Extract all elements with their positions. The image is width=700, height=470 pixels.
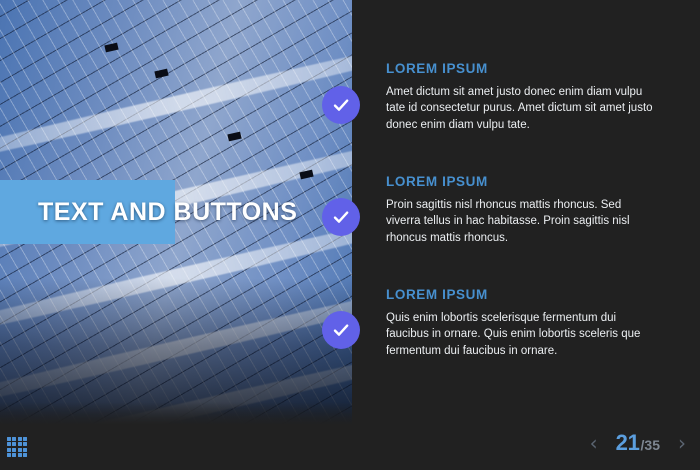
grid-cell — [18, 448, 22, 452]
list-item: LOREM IPSUM Proin sagittis nisl rhoncus … — [386, 174, 658, 246]
total-pages: /35 — [641, 437, 660, 453]
list-item: LOREM IPSUM Quis enim lobortis scelerisq… — [386, 287, 658, 359]
grid-cell — [12, 448, 16, 452]
grid-cell — [7, 453, 11, 457]
grid-cell — [18, 442, 22, 446]
item-body: Amet dictum sit amet justo donec enim di… — [386, 84, 658, 133]
grid-cell — [23, 437, 27, 441]
check-icon[interactable] — [322, 86, 360, 124]
item-body: Proin sagittis nisl rhoncus mattis rhonc… — [386, 197, 658, 246]
grid-cell — [12, 437, 16, 441]
pagination: ‹ 21 /35 › — [588, 428, 688, 458]
chevron-right-icon[interactable]: › — [676, 433, 688, 453]
grid-cell — [18, 437, 22, 441]
item-heading: LOREM IPSUM — [386, 287, 658, 302]
page-title: TEXT AND BUTTONS — [38, 198, 297, 227]
page-indicator: 21 /35 — [616, 430, 660, 456]
grid-cell — [12, 442, 16, 446]
chevron-left-icon[interactable]: ‹ — [588, 433, 600, 453]
item-body: Quis enim lobortis scelerisque fermentum… — [386, 310, 658, 359]
grid-cell — [7, 442, 11, 446]
grid-cell — [12, 453, 16, 457]
grid-cell — [18, 453, 22, 457]
grid-cell — [23, 448, 27, 452]
check-icon[interactable] — [322, 311, 360, 349]
grid-cell — [23, 442, 27, 446]
grid-menu-icon[interactable] — [7, 437, 27, 457]
grid-cell — [23, 453, 27, 457]
current-page: 21 — [616, 430, 640, 456]
photo-bottom-fade — [0, 402, 352, 428]
item-heading: LOREM IPSUM — [386, 61, 658, 76]
presentation-slide: TEXT AND BUTTONS LOREM IPSUM Amet dictum… — [0, 0, 700, 470]
item-heading: LOREM IPSUM — [386, 174, 658, 189]
check-icon[interactable] — [322, 198, 360, 236]
grid-cell — [7, 448, 11, 452]
list-item: LOREM IPSUM Amet dictum sit amet justo d… — [386, 61, 658, 133]
grid-cell — [7, 437, 11, 441]
